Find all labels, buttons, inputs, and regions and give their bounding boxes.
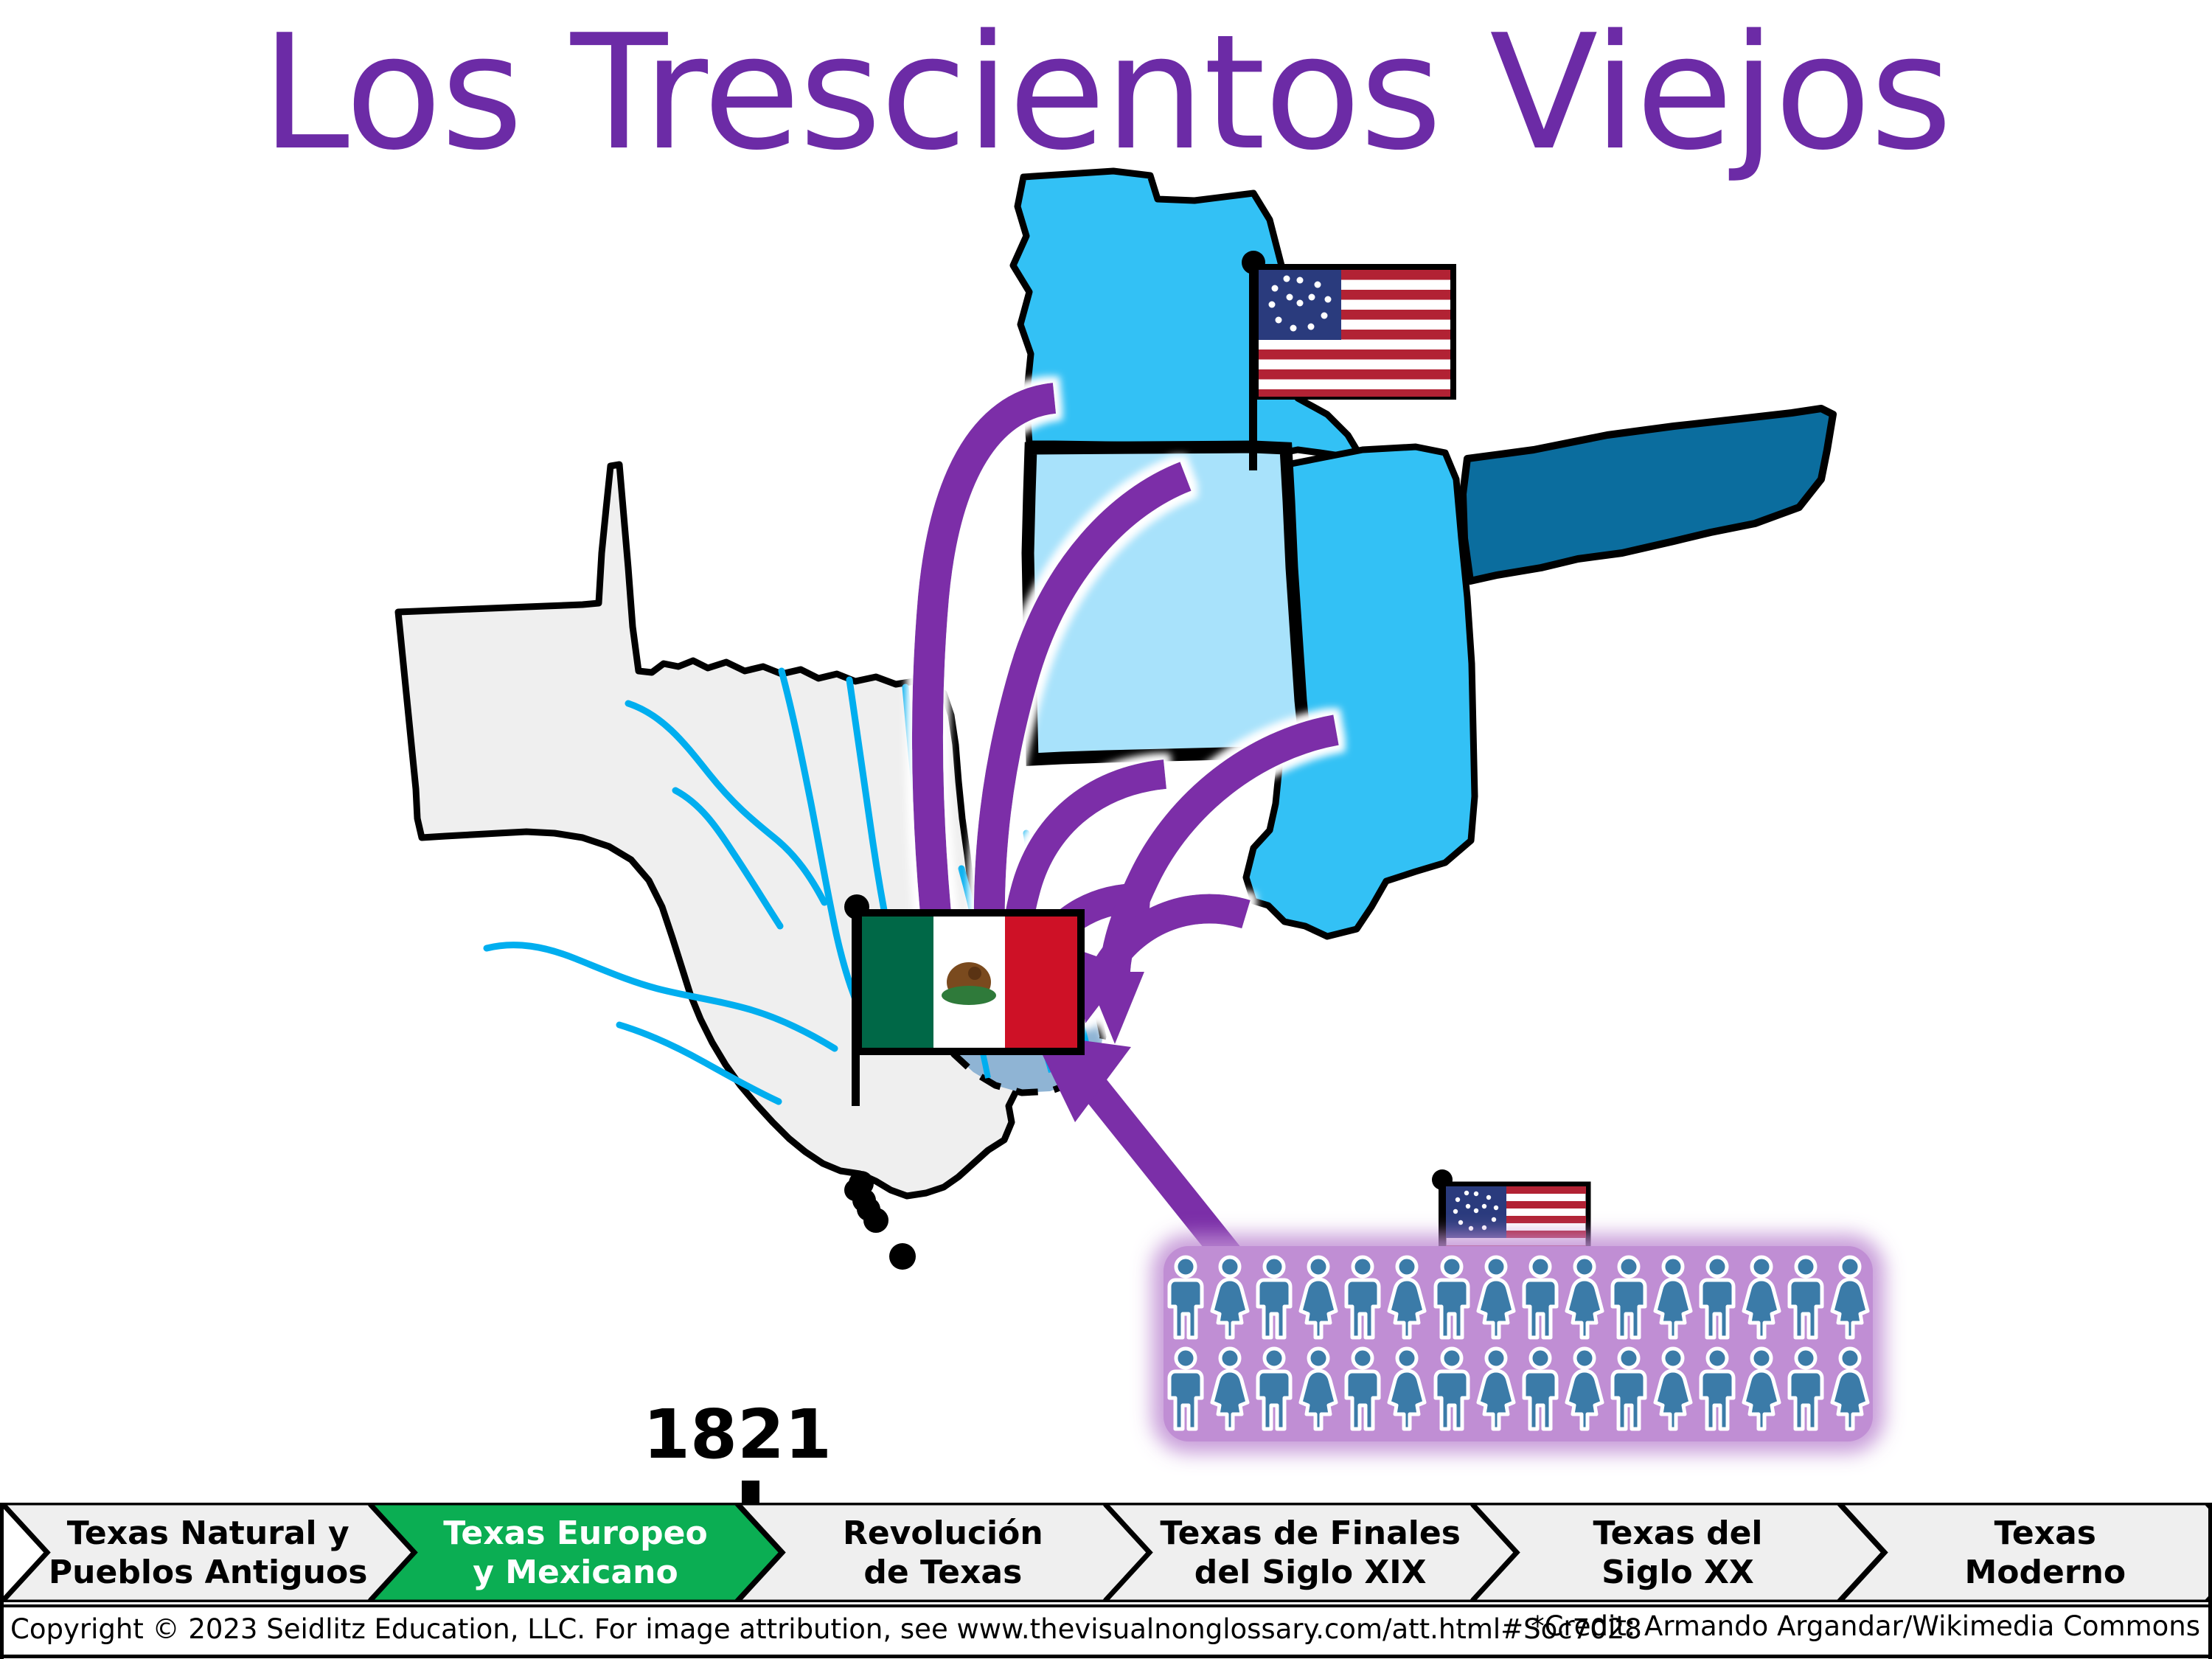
- person-icon-man: [1518, 1346, 1562, 1433]
- person-icon-woman: [1651, 1255, 1695, 1342]
- timeline-item-3[interactable]: Revoluciónde Texas: [737, 1503, 1150, 1602]
- copyright-text: Copyright © 2023 Seidlitz Education, LLC…: [10, 1612, 1642, 1647]
- people-row: [1164, 1345, 1873, 1433]
- person-icon-man: [1695, 1255, 1739, 1342]
- person-icon-woman: [1296, 1255, 1340, 1342]
- timeline-item-4[interactable]: Texas de Finalesdel Siglo XIX: [1104, 1503, 1517, 1602]
- person-icon-woman: [1562, 1346, 1607, 1433]
- person-icon-woman: [1651, 1346, 1695, 1433]
- person-icon-man: [1518, 1255, 1562, 1342]
- person-icon-man: [1607, 1346, 1651, 1433]
- person-icon-woman: [1474, 1346, 1518, 1433]
- person-icon-man: [1164, 1255, 1208, 1342]
- frame-left: [0, 1503, 4, 1659]
- people-row: [1164, 1253, 1873, 1342]
- person-icon-woman: [1739, 1255, 1784, 1342]
- settlers-people-group: [1164, 1246, 1873, 1441]
- timeline-year-label: 1821: [560, 1401, 914, 1469]
- person-icon-woman: [1828, 1346, 1872, 1433]
- timeline-item-label: Texas delSiglo XX: [1587, 1514, 1768, 1592]
- timeline: Texas Natural yPueblos AntiguosTexas Eur…: [0, 1503, 2212, 1602]
- person-icon-woman: [1828, 1255, 1872, 1342]
- state-tennessee: [1463, 408, 1833, 581]
- timeline-item-1[interactable]: Texas Natural yPueblos Antiguos: [1, 1503, 414, 1602]
- timeline-item-2[interactable]: Texas Europeoy Mexicano: [369, 1503, 782, 1602]
- page-title: Los Trescientos Viejos: [0, 13, 2212, 172]
- person-icon-man: [1430, 1346, 1474, 1433]
- poster-canvas: Los Trescientos Viejos: [0, 0, 2212, 1659]
- frame-right: [2208, 1503, 2212, 1659]
- footer-bottom-rule: [0, 1655, 2212, 1658]
- map-illustration: [0, 155, 2212, 1408]
- person-icon-woman: [1385, 1346, 1429, 1433]
- person-icon-man: [1340, 1255, 1385, 1342]
- person-icon-man: [1340, 1346, 1385, 1433]
- timeline-item-6[interactable]: TexasModerno: [1839, 1503, 2212, 1602]
- person-icon-man: [1430, 1255, 1474, 1342]
- person-icon-woman: [1739, 1346, 1784, 1433]
- person-icon-woman: [1562, 1255, 1607, 1342]
- footer-divider: [0, 1604, 2212, 1607]
- timeline-item-label: Texas de Finalesdel Siglo XIX: [1154, 1514, 1467, 1592]
- person-icon-man: [1607, 1255, 1651, 1342]
- timeline-item-label: Texas Europeoy Mexicano: [437, 1514, 713, 1592]
- credit-text: *Credit: Armando Argandar/Wikimedia Comm…: [1531, 1609, 2200, 1644]
- person-icon-man: [1164, 1346, 1208, 1433]
- timeline-item-label: TexasModerno: [1959, 1514, 2132, 1592]
- timeline-item-5[interactable]: Texas delSiglo XX: [1471, 1503, 1884, 1602]
- person-icon-man: [1784, 1255, 1828, 1342]
- person-icon-woman: [1474, 1255, 1518, 1342]
- person-icon-woman: [1296, 1346, 1340, 1433]
- person-icon-man: [1784, 1346, 1828, 1433]
- person-icon-woman: [1208, 1255, 1252, 1342]
- person-icon-woman: [1385, 1255, 1429, 1342]
- timeline-item-label: Texas Natural yPueblos Antiguos: [43, 1514, 373, 1592]
- person-icon-woman: [1208, 1346, 1252, 1433]
- person-icon-man: [1695, 1346, 1739, 1433]
- timeline-item-label: Revoluciónde Texas: [837, 1514, 1049, 1592]
- person-icon-man: [1252, 1346, 1296, 1433]
- timeline-year-tick: [742, 1481, 759, 1506]
- person-icon-man: [1252, 1255, 1296, 1342]
